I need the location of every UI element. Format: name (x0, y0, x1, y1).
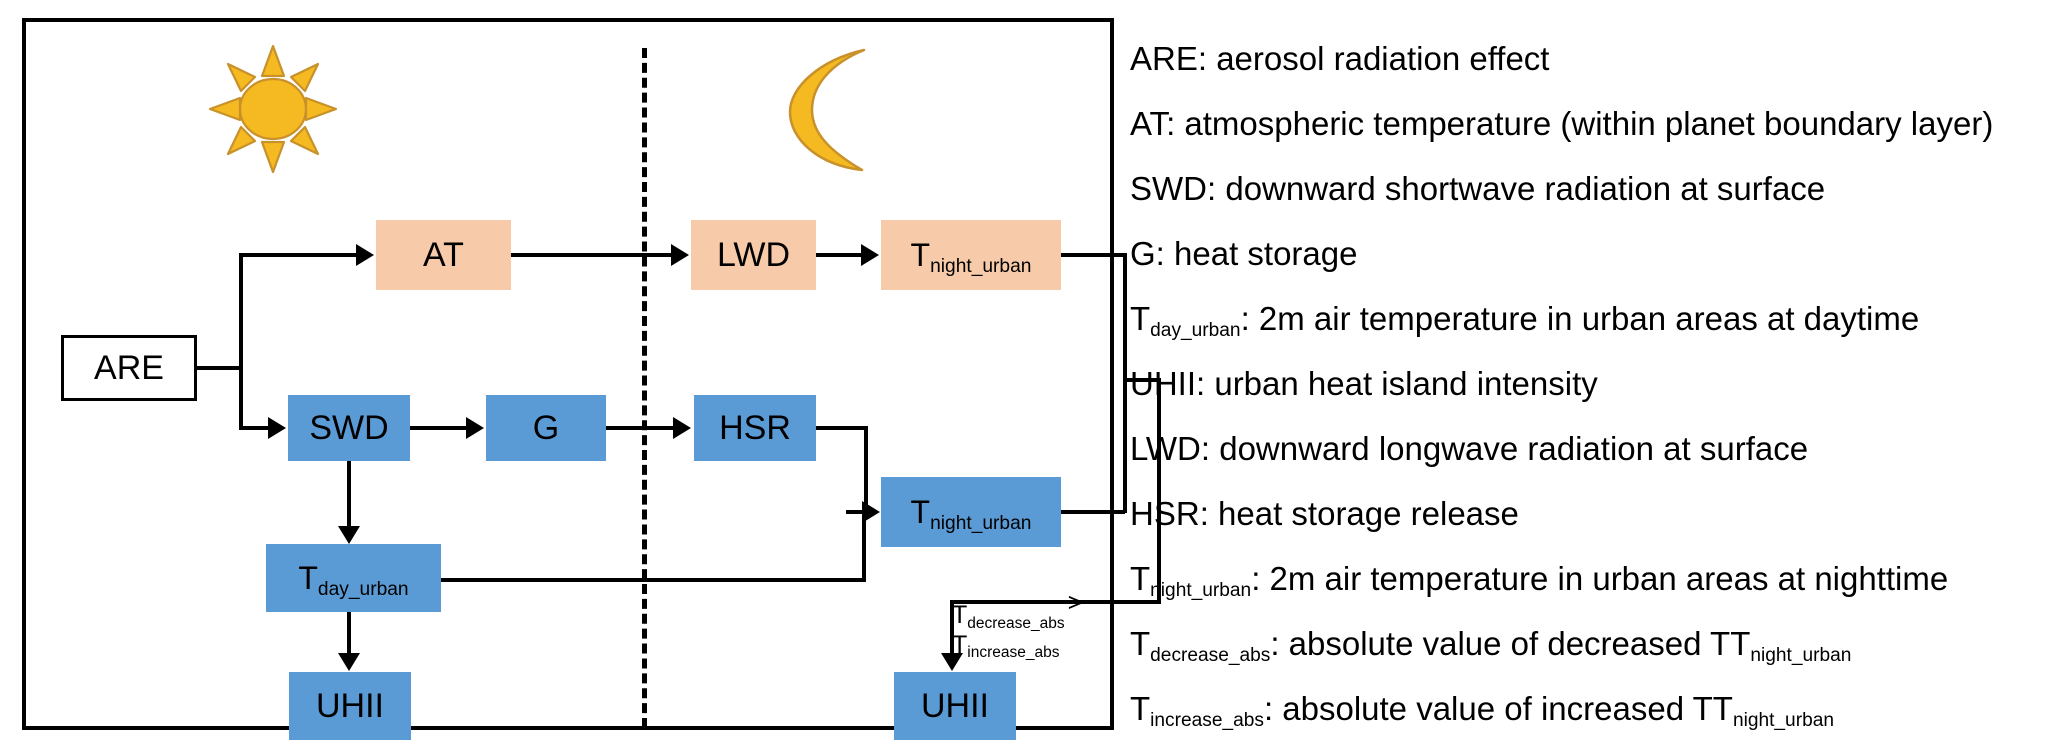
t-subscript: day_urban (318, 579, 409, 600)
edge-tnight-blue-right (1061, 510, 1125, 514)
edge-tday-up-to-tnight-blue (862, 510, 866, 580)
legend-item-hsr: HSR: heat storage release (1130, 497, 1519, 530)
edge-are-trunk (197, 366, 243, 370)
legend-text: : 2m air temperature in urban areas at n… (1251, 560, 1948, 597)
node-swd-label: SWD (309, 411, 388, 445)
t-base: T (911, 237, 931, 273)
condition-left: Tdecrease_abs> (952, 599, 1112, 631)
legend-item-t-day-urban: Tday_urban: 2m air temperature in urban … (1130, 302, 1919, 335)
edge-tday-right (441, 578, 866, 582)
sun-icon (208, 44, 338, 174)
node-uhii-day[interactable]: UHII (289, 672, 411, 740)
edge-are-trunk-vertical (239, 253, 243, 428)
node-are-label: ARE (94, 351, 164, 385)
legend-text: : aerosol radiation effect (1198, 40, 1550, 77)
legend-tail-base: T (1713, 690, 1733, 727)
legend-base: T (1130, 690, 1150, 727)
node-lwd-label: LWD (717, 238, 790, 272)
t-subscript: night_urban (930, 256, 1031, 277)
node-hsr[interactable]: HSR (694, 395, 816, 461)
day-night-divider (642, 48, 647, 728)
legend-text: : atmospheric temperature (within planet… (1166, 105, 1993, 142)
legend-item-t-night-urban: Tnight_urban: 2m air temperature in urba… (1130, 562, 1948, 595)
legend-item-at: AT: atmospheric temperature (within plan… (1130, 107, 1993, 140)
node-uhii-night[interactable]: UHII (894, 672, 1016, 740)
legend-sub: day_urban (1150, 320, 1240, 341)
node-t-day-urban-label: Tday_urban (298, 562, 408, 594)
legend-item-are: ARE: aerosol radiation effect (1130, 42, 1549, 75)
legend-text: : downward longwave radiation at surface (1201, 430, 1808, 467)
legend-item-t-decrease-abs: Tdecrease_abs: absolute value of decreas… (1130, 627, 1851, 660)
legend-sub: increase_abs (1150, 710, 1264, 731)
condition-right: Tincrease_abs (952, 631, 1112, 661)
edge-tday-to-uhii-day (347, 612, 351, 654)
arrowhead-are-to-swd (268, 417, 286, 439)
edge-tnight-orange-right (1061, 253, 1127, 257)
edge-at-to-lwd (511, 253, 672, 257)
legend-item-g: G: heat storage (1130, 237, 1357, 270)
legend-base: SWD (1130, 170, 1207, 207)
legend-item-t-increase-abs: Tincrease_abs: absolute value of increas… (1130, 692, 1834, 725)
legend-tail-base: T (1730, 625, 1750, 662)
legend-item-lwd: LWD: downward longwave radiation at surf… (1130, 432, 1808, 465)
edge-tnight-orange-down (1123, 253, 1127, 513)
edge-lwd-to-tnight-orange (816, 253, 862, 257)
edge-are-to-at (239, 253, 357, 257)
node-uhii-night-label: UHII (921, 689, 989, 723)
node-t-night-urban-blue[interactable]: Tnight_urban (881, 477, 1061, 547)
edge-hsr-down (864, 426, 868, 512)
node-swd[interactable]: SWD (288, 395, 410, 461)
condition-right-sub: increase_abs (967, 644, 1059, 661)
arrowhead-tday-to-uhii-day (338, 653, 360, 671)
node-lwd[interactable]: LWD (691, 220, 816, 290)
condition-right-base: T (952, 631, 967, 659)
arrowhead-g-to-hsr (673, 417, 691, 439)
node-t-day-urban[interactable]: Tday_urban (266, 544, 441, 612)
node-hsr-label: HSR (719, 411, 791, 445)
legend-base: G (1130, 235, 1156, 272)
node-g-label: G (533, 411, 559, 445)
t-base: T (911, 494, 931, 530)
edge-swd-to-g (410, 426, 466, 430)
condition-annotation: Tdecrease_abs> Tincrease_abs (952, 599, 1112, 660)
legend-text: : urban heat island intensity (1196, 365, 1598, 402)
figure-root: ARE AT LWD Tnight_urban SWD G HSR Tnight… (0, 0, 2067, 750)
diagram-panel: ARE AT LWD Tnight_urban SWD G HSR Tnight… (22, 18, 1114, 730)
legend-item-swd: SWD: downward shortwave radiation at sur… (1130, 172, 1825, 205)
legend-base: HSR (1130, 495, 1200, 532)
legend-text: : 2m air temperature in urban areas at d… (1241, 300, 1920, 337)
legend-sub: decrease_abs (1150, 645, 1270, 666)
node-t-night-urban-orange-label: Tnight_urban (911, 239, 1032, 271)
node-at-label: AT (423, 238, 464, 272)
edge-are-to-swd (239, 426, 269, 430)
legend-item-uhii: UHII: urban heat island intensity (1130, 367, 1598, 400)
node-at[interactable]: AT (376, 220, 511, 290)
legend-base: T (1130, 560, 1150, 597)
condition-left-sub: decrease_abs (967, 615, 1064, 632)
arrowhead-are-to-at (356, 244, 374, 266)
legend-tail-sub: night_urban (1750, 645, 1851, 666)
t-subscript: night_urban (930, 513, 1031, 534)
legend-text: : heat storage (1156, 235, 1358, 272)
legend-text: : absolute value of increased T (1264, 690, 1713, 727)
node-uhii-day-label: UHII (316, 689, 384, 723)
node-t-night-urban-orange[interactable]: Tnight_urban (881, 220, 1061, 290)
legend-base: T (1130, 300, 1150, 337)
legend-sub: night_urban (1150, 580, 1251, 601)
legend: ARE: aerosol radiation effect AT: atmosp… (1130, 20, 2060, 732)
legend-base: LWD (1130, 430, 1201, 467)
legend-base: UHII (1130, 365, 1196, 402)
legend-base: AT (1130, 105, 1166, 142)
node-t-night-urban-blue-label: Tnight_urban (911, 496, 1032, 528)
legend-base: T (1130, 625, 1150, 662)
arrowhead-at-to-lwd (671, 244, 689, 266)
condition-left-base: T (952, 601, 967, 629)
legend-text: : heat storage release (1200, 495, 1519, 532)
legend-text: : downward shortwave radiation at surfac… (1207, 170, 1825, 207)
arrowhead-swd-to-tday (338, 526, 360, 544)
edge-swd-to-tday (347, 461, 351, 527)
legend-tail-sub: night_urban (1733, 710, 1834, 731)
edge-g-to-hsr (606, 426, 674, 430)
legend-base: ARE (1130, 40, 1198, 77)
node-are[interactable]: ARE (61, 335, 197, 401)
legend-text: : absolute value of decreased T (1270, 625, 1730, 662)
t-base: T (298, 560, 318, 596)
condition-operator: > (1068, 587, 1083, 617)
node-g[interactable]: G (486, 395, 606, 461)
arrowhead-swd-to-g (466, 417, 484, 439)
arrowhead-lwd-to-tnight-orange (861, 244, 879, 266)
edge-hsr-right (816, 426, 868, 430)
crescent-moon-icon (768, 44, 888, 174)
